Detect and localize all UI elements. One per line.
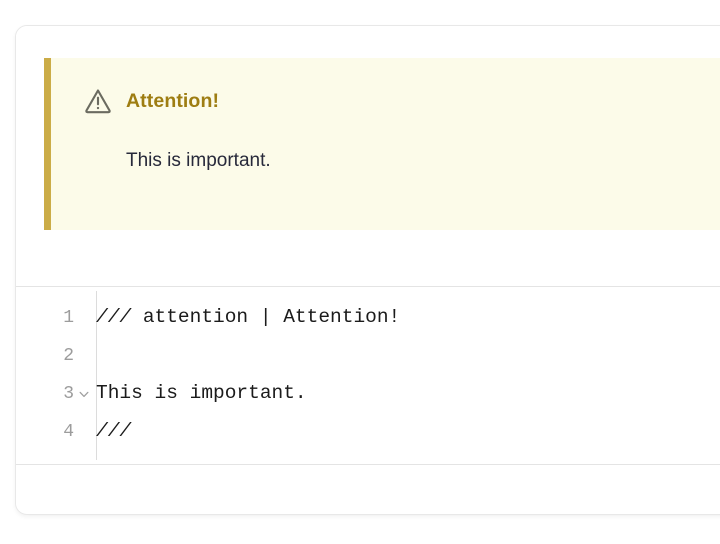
comment-token: ///: [96, 306, 143, 328]
line-gutter-3: 3: [16, 375, 81, 413]
chevron-down-icon[interactable]: [77, 387, 91, 401]
comment-token: ///: [96, 420, 131, 442]
code-line-row[interactable]: 1 /// attention | Attention!: [16, 299, 720, 337]
card-footer: [16, 465, 720, 513]
line-gutter-1: 1: [16, 299, 81, 337]
admonition-body-text: This is important.: [126, 150, 271, 172]
warning-triangle-icon: [83, 86, 113, 116]
code-editor-pane[interactable]: 1 /// attention | Attention! 2 3 This is…: [16, 287, 720, 465]
code-line-content-4[interactable]: ///: [81, 422, 720, 442]
doc-example-card: Attention! This is important. 1 /// atte…: [15, 25, 720, 515]
line-number: 2: [63, 347, 74, 365]
admonition-title: Attention!: [126, 90, 219, 113]
code-token: attention | Attention!: [143, 306, 400, 328]
code-line-row[interactable]: 2: [16, 337, 720, 375]
rendered-preview-pane: Attention! This is important.: [16, 26, 720, 287]
line-number: 1: [63, 309, 74, 327]
code-line-content-1[interactable]: /// attention | Attention!: [81, 308, 720, 328]
code-line-row[interactable]: 3 This is important.: [16, 375, 720, 413]
line-number: 3: [63, 385, 74, 403]
code-line-row[interactable]: 4 ///: [16, 413, 720, 451]
line-gutter-4: 4: [16, 413, 81, 451]
attention-admonition: Attention! This is important.: [44, 58, 720, 230]
line-number: 4: [63, 423, 74, 441]
admonition-header: Attention!: [83, 86, 219, 116]
line-gutter-2: 2: [16, 337, 81, 375]
code-line-content-3[interactable]: This is important.: [81, 384, 720, 404]
code-token: This is important.: [96, 382, 307, 404]
